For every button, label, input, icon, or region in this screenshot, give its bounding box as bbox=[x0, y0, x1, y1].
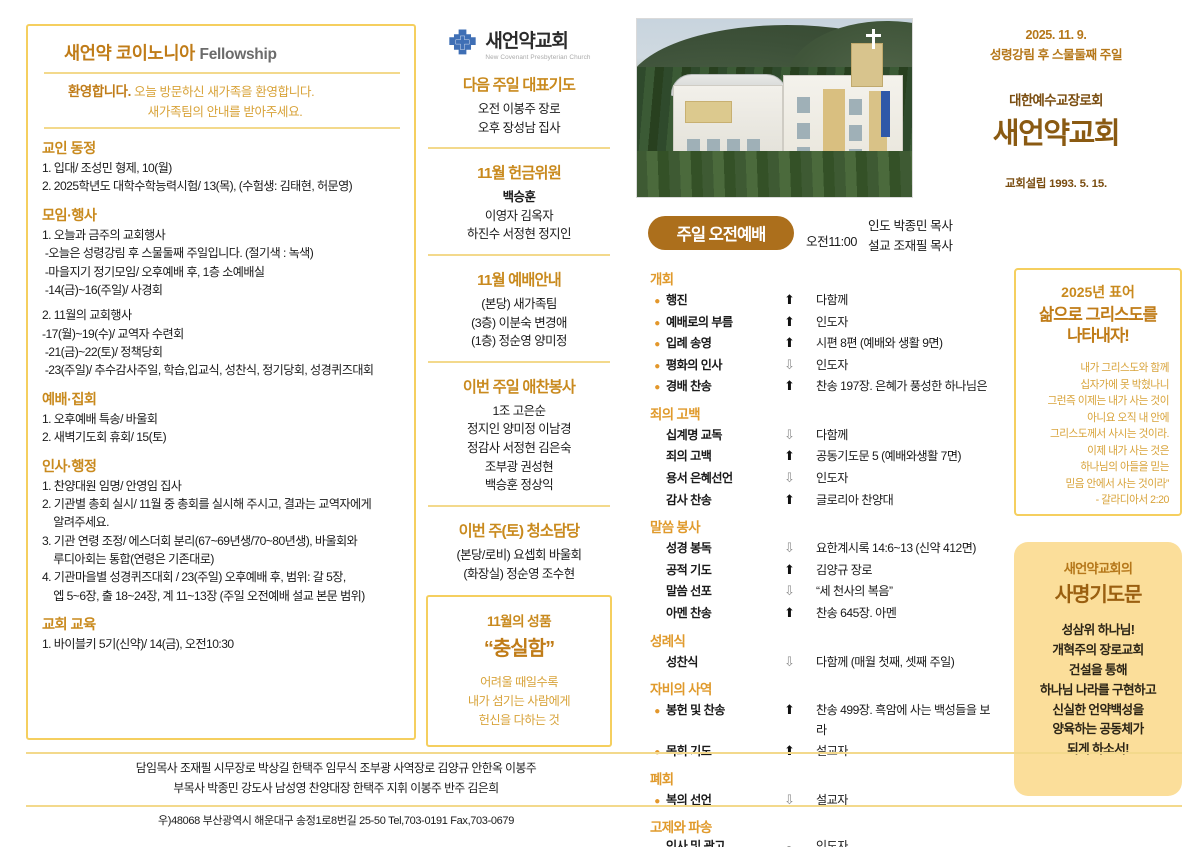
worship-item-name: 성찬식 bbox=[664, 653, 776, 673]
arrow-up-icon: ⬆ bbox=[776, 489, 816, 510]
announcement-item: 1. 입대/ 조성민 형제, 10(월) bbox=[42, 159, 402, 177]
fellowship-title-en: Fellowship bbox=[200, 46, 277, 63]
announcement-item: 1. 찬양대원 임명/ 안영임 집사 bbox=[42, 477, 402, 495]
info-block: 11월 예배안내(본당) 새가족팀(3층) 이분숙 변경애(1층) 정순영 양미… bbox=[424, 268, 614, 351]
announcement-section: 예배·집회1. 오후예배 특송/ 바울회2. 새벽기도회 휴회/ 15(토) bbox=[42, 389, 402, 447]
photo-bell-tower bbox=[851, 43, 883, 87]
info-block-line: 하진수 서정현 정지인 bbox=[424, 225, 614, 244]
spacer bbox=[42, 299, 402, 306]
worship-item-row: 성찬식⇩다함께 (매월 첫째, 셋째 주일) bbox=[650, 651, 998, 673]
divider bbox=[428, 254, 610, 256]
worship-item-value: 인도자 bbox=[816, 356, 998, 376]
worship-item-row: ●예배로의 부름⬆인도자 bbox=[650, 311, 998, 333]
motto-year-label: 2025년 표어 bbox=[1025, 282, 1171, 302]
announcement-section-heading: 예배·집회 bbox=[42, 389, 402, 409]
info-block-line: (3층) 이분숙 변경애 bbox=[424, 314, 614, 333]
arrow-down-icon: ⇩ bbox=[776, 537, 816, 558]
info-block: 이번 주(토) 청소담당(본당/로비) 요셉회 바울회(화장실) 정순영 조수현 bbox=[424, 519, 614, 583]
service-time: 오전11:00 bbox=[806, 231, 857, 250]
worship-item-value: 공동기도문 5 (예배와생활 7면) bbox=[816, 447, 998, 467]
arrow-up-icon: ⬆ bbox=[776, 740, 816, 761]
standing-bullet-icon: ● bbox=[650, 316, 664, 332]
photo-window bbox=[797, 123, 810, 139]
arrow-up-icon: ⬆ bbox=[776, 332, 816, 353]
denomination-name: 대한예수교장로회 bbox=[930, 89, 1182, 109]
worship-item-value: 시편 8편 (예배와 생활 9면) bbox=[816, 334, 998, 354]
arrow-up-icon: ⬆ bbox=[776, 311, 816, 332]
photo-gold-column-1 bbox=[823, 89, 845, 159]
announcement-section: 교인 동정1. 입대/ 조성민 형제, 10(월)2. 2025학년도 대학수학… bbox=[42, 138, 402, 196]
divider bbox=[44, 72, 400, 74]
announcement-section: 모임·행사1. 오늘과 금주의 교회행사 -오늘은 성령강림 후 스물둘째 주일… bbox=[42, 205, 402, 380]
mission-prayer-box: 새언약교회의 사명기도문 성삼위 하나님! 개혁주의 장로교회 건설을 통해 하… bbox=[1014, 542, 1182, 796]
info-block-line: (화장실) 정순영 조수현 bbox=[424, 565, 614, 584]
standing-bullet-icon: ● bbox=[650, 359, 664, 375]
service-officiants: 인도 박종민 목사 설교 조재필 목사 bbox=[868, 216, 953, 257]
fellowship-title-ko: 새언약 코이노니아 bbox=[64, 43, 195, 63]
announcement-item: -오늘은 성령강림 후 스물둘째 주일입니다. (절기색 : 녹색) bbox=[42, 244, 402, 262]
arrow-up-icon: ⬆ bbox=[776, 375, 816, 396]
info-block-line: 오후 장성남 집사 bbox=[424, 119, 614, 138]
staff-roster: 담임목사 조재필 시무장로 박상길 한택주 임무식 조부광 사역장로 김양규 안… bbox=[26, 758, 646, 799]
divider bbox=[26, 752, 1182, 754]
info-block-heading: 11월 예배안내 bbox=[424, 268, 614, 290]
info-block-heading: 다음 주일 대표기도 bbox=[424, 73, 614, 95]
middle-column: 새언약교회 New Covenant Presbyterian Church 다… bbox=[424, 26, 614, 747]
worship-item-value: 다함께 bbox=[816, 291, 998, 311]
worship-item-row: 십계명 교독⇩다함께 bbox=[650, 424, 998, 446]
worship-item-row: 성경 봉독⇩요한계시록 14:6~13 (신약 412면) bbox=[650, 537, 998, 559]
annual-motto-box: 2025년 표어 삶으로 그리스도를 나타내자! 내가 그리스도와 함께 십자가… bbox=[1014, 268, 1182, 516]
info-block-line: (본당/로비) 요셉회 바울회 bbox=[424, 546, 614, 565]
virtue-word: “충실함” bbox=[434, 632, 604, 661]
announcement-item: 2. 새벽기도회 휴회/ 15(토) bbox=[42, 428, 402, 446]
announcement-item: 2. 2025학년도 대학수학능력시험/ 13(목), (수험생: 김태현, 허… bbox=[42, 177, 402, 195]
worship-item-name: 아멘 찬송 bbox=[664, 604, 776, 624]
worship-item-name: 공적 기도 bbox=[664, 561, 776, 581]
church-name-title: 새언약교회 bbox=[930, 110, 1182, 152]
info-block-heading: 11월 헌금위원 bbox=[424, 161, 614, 183]
announcement-item: 3. 기관 연령 조정/ 에스더회 분리(67~69년생/70~80년생), 바… bbox=[42, 532, 402, 569]
service-title-badge: 주일 오전예배 bbox=[648, 216, 794, 250]
worship-item-row: ●평화의 인사⇩인도자 bbox=[650, 354, 998, 376]
founding-date: 교회설립 1993. 5. 15. bbox=[930, 175, 1182, 191]
worship-item-name: 예배로의 부름 bbox=[664, 313, 776, 333]
standing-bullet-icon: ● bbox=[650, 337, 664, 353]
worship-item-name: 행진 bbox=[664, 291, 776, 311]
divider bbox=[26, 805, 1182, 807]
bulletin-date: 2025. 11. 9. bbox=[930, 26, 1182, 46]
info-block-line: 조부광 권성현 bbox=[424, 458, 614, 477]
worship-item-name: 경배 찬송 bbox=[664, 377, 776, 397]
worship-section-heading: 성례식 bbox=[650, 630, 998, 650]
worship-item-name: 인사 및 광고 bbox=[664, 837, 776, 847]
motto-text: 삶으로 그리스도를 나타내자! bbox=[1025, 305, 1171, 347]
arrow-up-icon: ⬆ bbox=[776, 445, 816, 466]
divider bbox=[428, 361, 610, 363]
arrow-up-icon: ⬆ bbox=[776, 559, 816, 580]
worship-item-name: 십계명 교독 bbox=[664, 426, 776, 446]
announcement-section-heading: 인사·행정 bbox=[42, 456, 402, 476]
info-block-line: 1조 고은순 bbox=[424, 402, 614, 421]
info-block-line: (본당) 새가족팀 bbox=[424, 295, 614, 314]
worship-item-name: 말씀 선포 bbox=[664, 582, 776, 602]
photo-foreground-trees bbox=[637, 151, 913, 197]
photo-cross-icon bbox=[872, 29, 875, 49]
worship-item-row: ●입례 송영⬆시편 8편 (예배와 생활 9면) bbox=[650, 332, 998, 354]
info-block-line: 백승훈 bbox=[424, 188, 614, 207]
worship-item-row: ●경배 찬송⬆찬송 197장. 은혜가 풍성한 하나님은 bbox=[650, 375, 998, 397]
mission-body: 성삼위 하나님! 개혁주의 장로교회 건설을 통해 하나님 나라를 구현하고 신… bbox=[1022, 621, 1174, 760]
church-address: 우)48068 부산광역시 해운대구 송정1로8번길 25-50 Tel,703… bbox=[26, 812, 646, 828]
virtue-heading: 11월의 성품 bbox=[434, 610, 604, 630]
worship-item-name: 용서 은혜선언 bbox=[664, 469, 776, 489]
worship-item-value: 다함께 (매월 첫째, 셋째 주일) bbox=[816, 653, 998, 673]
arrow-up-icon: ⬆ bbox=[776, 602, 816, 623]
arrow-down-icon: ⇩ bbox=[776, 651, 816, 672]
info-block-line: 이영자 김옥자 bbox=[424, 207, 614, 226]
photo-window bbox=[849, 125, 862, 141]
monthly-virtue-box: 11월의 성품 “충실함” 어려울 때일수록 내가 섬기는 사람에게 헌신을 다… bbox=[426, 595, 612, 747]
worship-item-value: 요한계시록 14:6~13 (신약 412면) bbox=[816, 539, 998, 559]
staff-line-2: 부목사 박종민 강도사 남성영 찬양대장 한택주 지휘 이봉주 반주 김은희 bbox=[26, 778, 646, 798]
virtue-body: 어려울 때일수록 내가 섬기는 사람에게 헌신을 다하는 것 bbox=[434, 673, 604, 730]
standing-bullet-icon: ● bbox=[650, 794, 664, 810]
info-block-heading: 이번 주일 애찬봉사 bbox=[424, 375, 614, 397]
announcement-item: -21(금)~22(토)/ 정책당회 bbox=[42, 343, 402, 361]
info-block-heading: 이번 주(토) 청소담당 bbox=[424, 519, 614, 541]
standing-bullet-icon: ● bbox=[650, 380, 664, 396]
worship-item-name: 감사 찬송 bbox=[664, 491, 776, 511]
worship-item-row: 인사 및 광고-인도자 bbox=[650, 837, 998, 847]
worship-item-value: 찬송 499장. 흑암에 사는 백성들을 보라 bbox=[816, 701, 998, 740]
worship-item-value: 인도자 bbox=[816, 313, 998, 333]
announcement-sections: 교인 동정1. 입대/ 조성민 형제, 10(월)2. 2025학년도 대학수학… bbox=[42, 138, 402, 654]
photo-window bbox=[849, 99, 862, 115]
announcement-item: 4. 기관마을별 성경퀴즈대회 / 23(주일) 오후예배 후, 범위: 갈 5… bbox=[42, 568, 402, 605]
info-block-line: 백승훈 정상익 bbox=[424, 476, 614, 495]
fellowship-title: 새언약 코이노니아 Fellowship bbox=[42, 36, 402, 65]
order-of-worship: 개회●행진⬆다함께●예배로의 부름⬆인도자●입례 송영⬆시편 8편 (예배와 생… bbox=[650, 268, 998, 847]
worship-section-heading: 개회 bbox=[650, 268, 998, 288]
church-logo: 새언약교회 New Covenant Presbyterian Church bbox=[424, 26, 614, 61]
worship-item-name: 평화의 인사 bbox=[664, 356, 776, 376]
worship-item-value: 찬송 645장. 아멘 bbox=[816, 604, 998, 624]
announcement-item: 1. 바이블키 5기(신약)/ 14(금), 오전10:30 bbox=[42, 635, 402, 653]
worship-section-heading: 말씀 봉사 bbox=[650, 516, 998, 536]
arrow-dash-icon: - bbox=[776, 837, 816, 847]
bulletin-page: 새언약 코이노니아 Fellowship 환영합니다. 오늘 방문하신 새가족을… bbox=[0, 0, 1200, 847]
worship-item-row: 아멘 찬송⬆찬송 645장. 아멘 bbox=[650, 602, 998, 624]
announcement-item: -17(월)~19(수)/ 교역자 수련회 bbox=[42, 325, 402, 343]
announcement-item: -마을지기 정기모임/ 오후예배 후, 1층 소예배실 bbox=[42, 263, 402, 281]
info-block-line: 정지인 양미정 이남경 bbox=[424, 420, 614, 439]
arrow-up-icon: ⬆ bbox=[776, 289, 816, 310]
worship-item-value: 인도자 bbox=[816, 469, 998, 489]
announcement-section-heading: 모임·행사 bbox=[42, 205, 402, 225]
announcement-section-heading: 교인 동정 bbox=[42, 138, 402, 158]
welcome-line2: 새가족팀의 안내를 받아주세요. bbox=[68, 101, 402, 120]
order-sections: 개회●행진⬆다함께●예배로의 부름⬆인도자●입례 송영⬆시편 8편 (예배와 생… bbox=[650, 268, 998, 847]
logo-text: 새언약교회 New Covenant Presbyterian Church bbox=[485, 26, 590, 61]
motto-scripture: 내가 그리스도와 함께 십자가에 못 박혔나니 그런즉 이제는 내가 사는 것이… bbox=[1025, 360, 1171, 509]
info-block: 11월 헌금위원백승훈이영자 김옥자하진수 서정현 정지인 bbox=[424, 161, 614, 244]
liturgical-season: 성령강림 후 스물둘째 주일 bbox=[930, 46, 1182, 66]
worship-item-row: 죄의 고백⬆공동기도문 5 (예배와생활 7면) bbox=[650, 445, 998, 467]
worship-item-value: “세 천사의 복음” bbox=[816, 582, 998, 602]
announcements-panel: 새언약 코이노니아 Fellowship 환영합니다. 오늘 방문하신 새가족을… bbox=[26, 24, 416, 740]
mission-subtitle: 새언약교회의 bbox=[1022, 558, 1174, 577]
worship-item-row: 말씀 선포⇩“세 천사의 복음” bbox=[650, 580, 998, 602]
announcement-item: 1. 오늘과 금주의 교회행사 bbox=[42, 226, 402, 244]
worship-item-row: 감사 찬송⬆글로리아 찬양대 bbox=[650, 489, 998, 511]
arrow-down-icon: ⇩ bbox=[776, 354, 816, 375]
service-preacher: 설교 조재필 목사 bbox=[868, 236, 953, 256]
worship-section-heading: 죄의 고백 bbox=[650, 403, 998, 423]
worship-section-heading: 자비의 사역 bbox=[650, 678, 998, 698]
divider bbox=[428, 505, 610, 507]
church-building-photo bbox=[636, 18, 913, 198]
announcement-section: 인사·행정1. 찬양대원 임명/ 안영임 집사2. 기관별 총회 실시/ 11월… bbox=[42, 456, 402, 606]
welcome-message: 환영합니다. 오늘 방문하신 새가족을 환영합니다. 새가족팀의 안내를 받아주… bbox=[42, 80, 402, 120]
worship-item-value: 글로리아 찬양대 bbox=[816, 491, 998, 511]
arrow-down-icon: ⇩ bbox=[776, 424, 816, 445]
worship-item-name: 입례 송영 bbox=[664, 334, 776, 354]
worship-item-value: 찬송 197장. 은혜가 풍성한 하나님은 bbox=[816, 377, 998, 397]
worship-item-value: 김양규 장로 bbox=[816, 561, 998, 581]
info-block-line: 오전 이봉주 장로 bbox=[424, 100, 614, 119]
info-block: 다음 주일 대표기도오전 이봉주 장로오후 장성남 집사 bbox=[424, 73, 614, 137]
worship-item-row: ●행진⬆다함께 bbox=[650, 289, 998, 311]
welcome-strong: 환영합니다. bbox=[68, 84, 131, 99]
worship-item-name: 복의 선언 bbox=[664, 791, 776, 811]
worship-item-value: 다함께 bbox=[816, 426, 998, 446]
welcome-rest: 오늘 방문하신 새가족을 환영합니다. bbox=[134, 85, 314, 99]
worship-item-value: 인도자 bbox=[816, 837, 998, 847]
photo-church-sign bbox=[881, 91, 890, 137]
announcement-item: -14(금)~16(주일)/ 사경회 bbox=[42, 281, 402, 299]
worship-section-heading: 폐회 bbox=[650, 768, 998, 788]
announcement-item: 2. 기관별 총회 실시/ 11월 중 총회를 실시해 주시고, 결과는 교역자… bbox=[42, 495, 402, 532]
announcement-section-heading: 교회 교육 bbox=[42, 614, 402, 634]
worship-item-name: 성경 봉독 bbox=[664, 539, 776, 559]
announcement-item: 2. 11월의 교회행사 bbox=[42, 306, 402, 324]
worship-item-row: 공적 기도⬆김양규 장로 bbox=[650, 559, 998, 581]
arrow-up-icon: ⬆ bbox=[776, 699, 816, 720]
logo-name-en: New Covenant Presbyterian Church bbox=[485, 54, 590, 61]
worship-item-row: ●복의 선언⇩설교자 bbox=[650, 789, 998, 811]
photo-window bbox=[797, 97, 810, 113]
announcement-item: 1. 오후예배 특송/ 바울회 bbox=[42, 410, 402, 428]
worship-section-heading: 고제와 파송 bbox=[650, 816, 998, 836]
bulletin-header: 2025. 11. 9. 성령강림 후 스물둘째 주일 대한예수교장로회 새언약… bbox=[930, 26, 1182, 191]
photo-wall-panel bbox=[685, 101, 732, 123]
logo-name-ko: 새언약교회 bbox=[485, 26, 567, 53]
service-leader: 인도 박종민 목사 bbox=[868, 216, 953, 236]
divider bbox=[428, 147, 610, 149]
worship-item-name: 죄의 고백 bbox=[664, 447, 776, 467]
info-block-line: 정감사 서정현 김은숙 bbox=[424, 439, 614, 458]
mission-heading: 사명기도문 bbox=[1022, 578, 1174, 607]
standing-bullet-icon: ● bbox=[650, 704, 664, 720]
divider bbox=[44, 127, 400, 129]
announcement-item: -23(주일)/ 추수감사주일, 학습,입교식, 성찬식, 정기당회, 성경퀴즈… bbox=[42, 361, 402, 379]
cross-logo-icon bbox=[447, 28, 478, 59]
worship-item-value: 설교자 bbox=[816, 791, 998, 811]
announcement-section: 교회 교육1. 바이블키 5기(신약)/ 14(금), 오전10:30 bbox=[42, 614, 402, 653]
arrow-down-icon: ⇩ bbox=[776, 467, 816, 488]
worship-item-row: ●봉헌 및 찬송⬆찬송 499장. 흑암에 사는 백성들을 보라 bbox=[650, 699, 998, 740]
info-block-line: (1층) 정순영 양미정 bbox=[424, 332, 614, 351]
info-block: 이번 주일 애찬봉사1조 고은순정지인 양미정 이남경정감사 서정현 김은숙조부… bbox=[424, 375, 614, 495]
staff-line-1: 담임목사 조재필 시무장로 박상길 한택주 임무식 조부광 사역장로 김양규 안… bbox=[26, 758, 646, 778]
standing-bullet-icon: ● bbox=[650, 294, 664, 310]
worship-item-row: 용서 은혜선언⇩인도자 bbox=[650, 467, 998, 489]
worship-item-name: 봉헌 및 찬송 bbox=[664, 701, 776, 721]
arrow-down-icon: ⇩ bbox=[776, 580, 816, 601]
photo-cross-icon-bar bbox=[866, 34, 881, 37]
middle-info-blocks: 다음 주일 대표기도오전 이봉주 장로오후 장성남 집사11월 헌금위원백승훈이… bbox=[424, 73, 614, 583]
